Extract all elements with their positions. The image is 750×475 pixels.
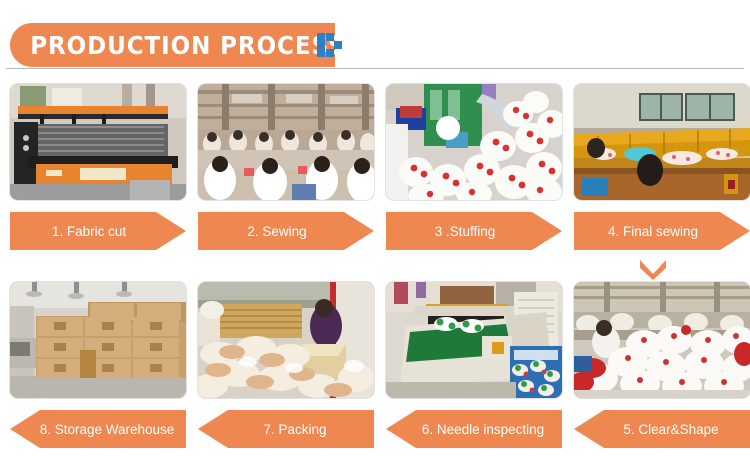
step-image-stuffing xyxy=(386,84,562,200)
process-step-8: 8. Storage Warehouse xyxy=(10,282,186,447)
process-step-6: 6. Needle inspecting xyxy=(386,282,562,447)
step-label-bar-7[interactable]: 7. Packing xyxy=(198,410,374,448)
process-step-7: 7. Packing xyxy=(198,282,374,447)
step-label-7: 7. Packing xyxy=(245,422,326,437)
step-image-clear-and-shape xyxy=(574,282,750,398)
step-label-bar-5[interactable]: 5. Clear&Shape xyxy=(574,410,750,448)
step-label-1: 1. Fabric cut xyxy=(52,224,144,239)
process-step-2: 2. Sewing xyxy=(198,84,374,249)
step-label-5: 5. Clear&Shape xyxy=(605,422,718,437)
step-label-bar-6[interactable]: 6. Needle inspecting xyxy=(386,410,562,448)
step-label-bar-8[interactable]: 8. Storage Warehouse xyxy=(10,410,186,448)
process-row-1: 1. Fabric cut xyxy=(0,84,750,249)
step-image-storage-warehouse xyxy=(10,282,186,398)
step-label-4: 4. Final sewing xyxy=(608,224,716,239)
step-label-6: 6. Needle inspecting xyxy=(404,422,544,437)
step-image-sewing xyxy=(198,84,374,200)
page-title-banner: PRODUCTION PROCESS xyxy=(10,23,335,67)
step-label-bar-3[interactable]: 3 .Stuffing xyxy=(386,212,562,250)
step-label-bar-4[interactable]: 4. Final sewing xyxy=(574,212,750,250)
step-label-bar-1[interactable]: 1. Fabric cut xyxy=(10,212,186,250)
step-image-final-sewing xyxy=(574,84,750,200)
process-row-2: 8. Storage Warehouse xyxy=(0,282,750,447)
process-step-1: 1. Fabric cut xyxy=(10,84,186,249)
step-label-8: 8. Storage Warehouse xyxy=(22,422,175,437)
production-process-infographic: PRODUCTION PROCESS xyxy=(0,0,750,475)
header-divider xyxy=(6,68,744,69)
step-image-packing xyxy=(198,282,374,398)
step-image-needle-inspecting xyxy=(386,282,562,398)
step-image-fabric-cut xyxy=(10,84,186,200)
chevron-down-icon xyxy=(638,258,668,280)
page-title: PRODUCTION PROCESS xyxy=(10,31,345,60)
step-label-2: 2. Sewing xyxy=(247,224,324,239)
process-step-5: 5. Clear&Shape xyxy=(574,282,750,447)
process-step-4: 4. Final sewing xyxy=(574,84,750,249)
step-label-3: 3 .Stuffing xyxy=(435,224,514,239)
header: PRODUCTION PROCESS xyxy=(0,0,750,70)
pixel-arrow-icon xyxy=(317,33,343,57)
process-step-3: 3 .Stuffing xyxy=(386,84,562,249)
step-label-bar-2[interactable]: 2. Sewing xyxy=(198,212,374,250)
